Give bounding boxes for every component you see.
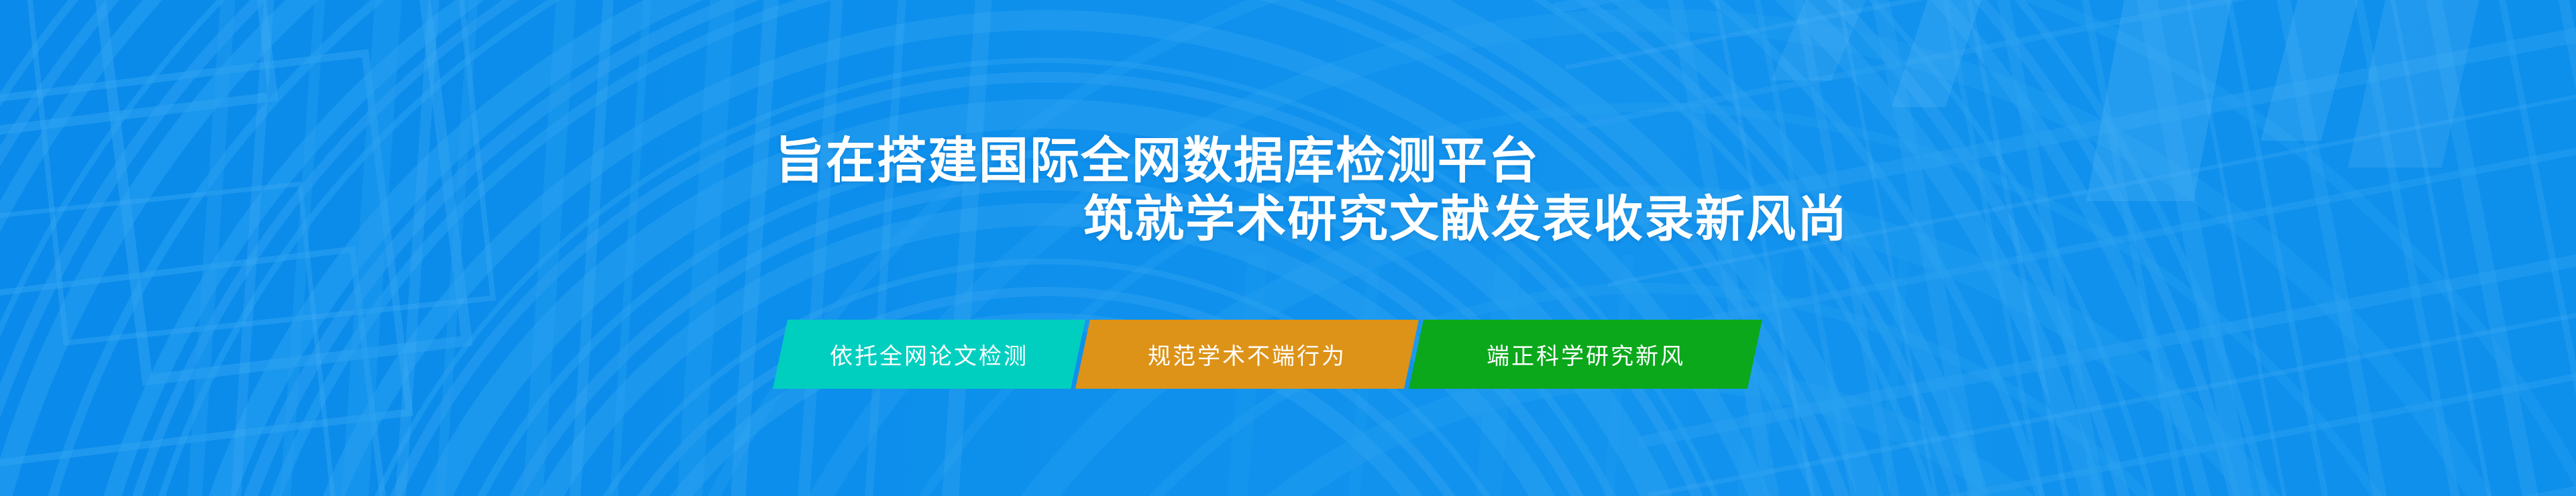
headline-line-1: 旨在搭建国际全网数据库检测平台 — [0, 131, 1811, 190]
feature-tag-whole-web-detection[interactable]: 依托全网论文检测 — [773, 320, 1085, 389]
feature-tag-strip: 依托全网论文检测 规范学术不端行为 端正科学研究新风 — [780, 320, 1755, 389]
feature-tag-label: 规范学术不端行为 — [1148, 338, 1346, 371]
headline-line-2: 筑就学术研究文献发表收录新风尚 — [0, 190, 1811, 248]
feature-tag-academic-misconduct[interactable]: 规范学术不端行为 — [1075, 320, 1419, 389]
feature-tag-label: 端正科学研究新风 — [1487, 338, 1685, 371]
feature-tag-research-ethos[interactable]: 端正科学研究新风 — [1409, 320, 1762, 389]
banner-headline: 旨在搭建国际全网数据库检测平台 筑就学术研究文献发表收录新风尚 — [0, 131, 1811, 249]
promo-banner: 旨在搭建国际全网数据库检测平台 筑就学术研究文献发表收录新风尚 依托全网论文检测… — [0, 0, 2576, 496]
feature-tag-label: 依托全网论文检测 — [830, 338, 1028, 371]
